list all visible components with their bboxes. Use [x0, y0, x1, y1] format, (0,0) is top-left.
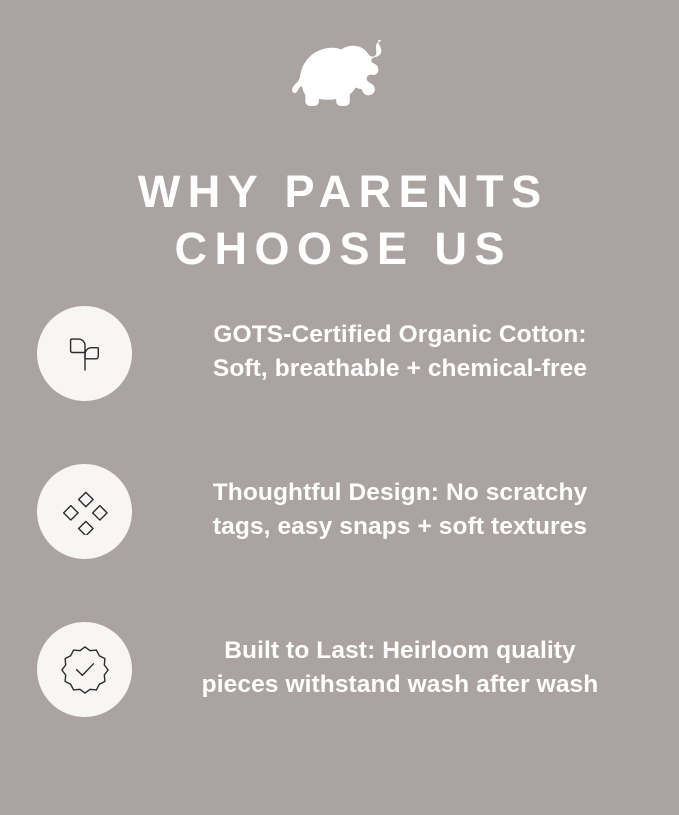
page-title-line-1: WHY PARENTS: [0, 163, 679, 220]
benefit-icon-circle: [37, 464, 132, 559]
benefits-list: GOTS-Certified Organic Cotton: Soft, bre…: [0, 306, 679, 780]
benefit-icon-circle: [37, 306, 132, 401]
page-title-line-2: CHOOSE US: [0, 220, 679, 277]
benefit-text: GOTS-Certified Organic Cotton: Soft, bre…: [150, 318, 650, 386]
badge-check-icon: [61, 646, 109, 694]
benefit-text-line-1: Built to Last: Heirloom quality: [150, 634, 650, 668]
page-title: WHY PARENTS CHOOSE US: [0, 163, 679, 277]
brand-logo: [0, 38, 679, 110]
benefit-text-line-2: tags, easy snaps + soft textures: [150, 510, 650, 544]
benefit-text-line-2: Soft, breathable + chemical-free: [150, 352, 650, 386]
why-parents-choose-us-panel: WHY PARENTS CHOOSE US GOTS-Certified Org…: [0, 0, 679, 815]
benefit-item-built-to-last: Built to Last: Heirloom quality pieces w…: [0, 622, 679, 780]
benefit-item-organic-cotton: GOTS-Certified Organic Cotton: Soft, bre…: [0, 306, 679, 464]
benefit-text-line-1: Thoughtful Design: No scratchy: [150, 476, 650, 510]
benefit-text: Thoughtful Design: No scratchy tags, eas…: [150, 476, 650, 544]
benefit-icon-circle: [37, 622, 132, 717]
benefit-item-thoughtful-design: Thoughtful Design: No scratchy tags, eas…: [0, 464, 679, 622]
sprout-leaf-icon: [62, 331, 108, 377]
four-diamonds-icon: [62, 489, 108, 535]
benefit-text-line-2: pieces withstand wash after wash: [150, 668, 650, 702]
benefit-text: Built to Last: Heirloom quality pieces w…: [150, 634, 650, 702]
elephant-logo-icon: [292, 40, 388, 108]
benefit-text-line-1: GOTS-Certified Organic Cotton:: [150, 318, 650, 352]
